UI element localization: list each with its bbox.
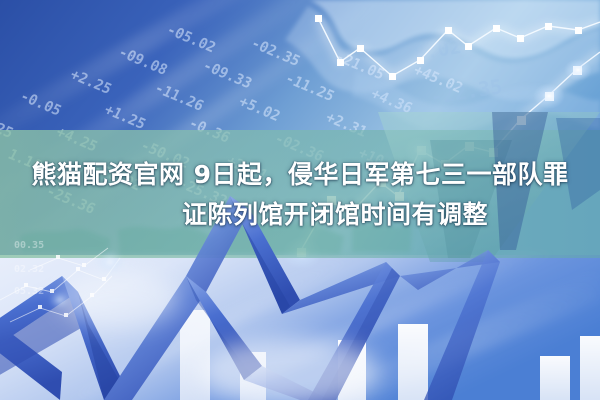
headline-block: 熊猫配资官网 9日起，侵华日军第七三一部队罪 证陈列馆开闭馆时间有调整 xyxy=(0,155,600,235)
ticker-value: 02.32 xyxy=(14,264,44,275)
headline-line-2: 证陈列馆开闭馆时间有调整 xyxy=(14,195,586,235)
ticker-value: 05.32 xyxy=(14,286,44,297)
headline-line-1: 熊猫配资官网 9日起，侵华日军第七三一部队罪 xyxy=(14,155,586,195)
news-banner: -05.02 -02.35 -21.05 +45.02 -09.08 -09.3… xyxy=(0,0,600,400)
ticker-value: 00.35 xyxy=(14,240,44,251)
